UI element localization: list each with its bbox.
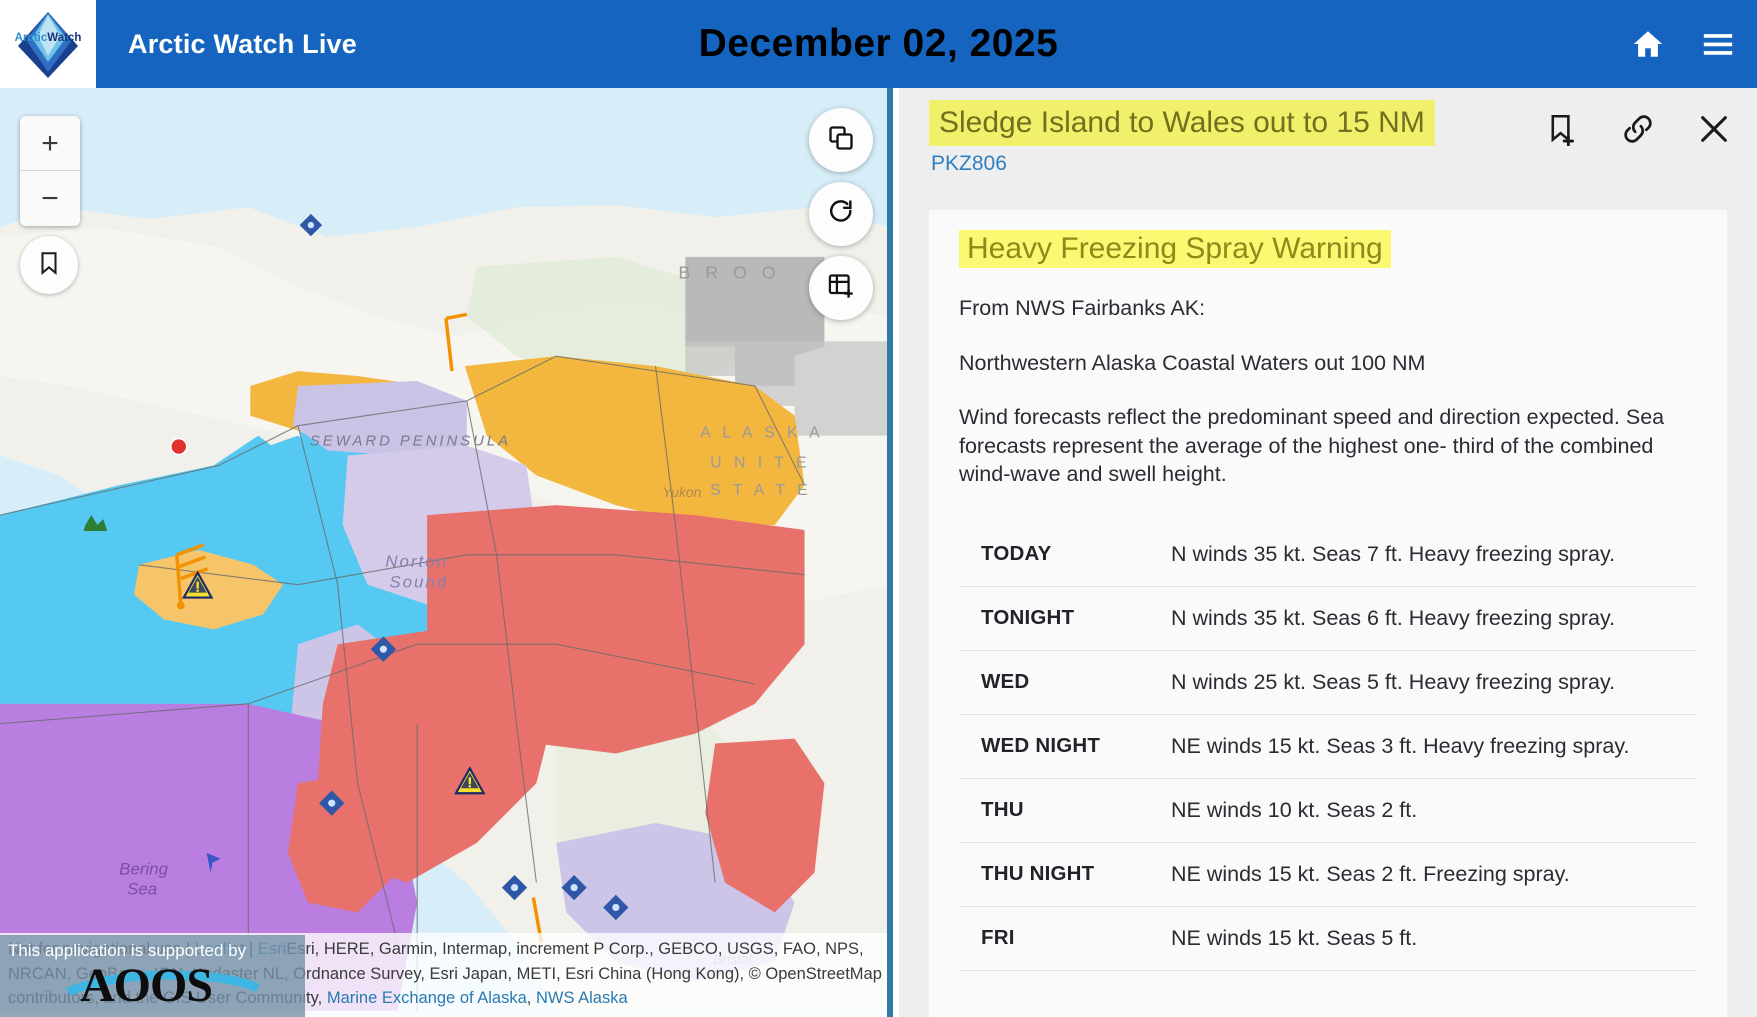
forecast-period: WED: [981, 670, 1171, 694]
marine-exchange-link[interactable]: Marine Exchange of Alaska: [327, 989, 527, 1007]
forecast-text: N winds 25 kt. Seas 5 ft. Heavy freezing…: [1171, 670, 1615, 695]
alert-body[interactable]: Heavy Freezing Spray Warning From NWS Fa…: [929, 210, 1727, 1017]
forecast-period: TODAY: [981, 542, 1171, 566]
table-row: TODAY N winds 35 kt. Seas 7 ft. Heavy fr…: [959, 523, 1697, 587]
nws-alaska-link[interactable]: NWS Alaska: [536, 989, 628, 1007]
aoos-logo: AOOS: [8, 962, 297, 1012]
forecast-period: THU: [981, 798, 1171, 822]
svg-text:SEWARD PENINSULA: SEWARD PENINSULA: [310, 434, 511, 450]
bookmark-icon: [36, 250, 62, 281]
refresh-icon: [827, 198, 855, 231]
forecast-period: THU NIGHT: [981, 862, 1171, 886]
warning-headline: Heavy Freezing Spray Warning: [959, 230, 1391, 268]
table-row: FRI NE winds 15 kt. Seas 5 ft.: [959, 907, 1697, 971]
hamburger-menu-icon[interactable]: [1701, 27, 1735, 61]
app-logo[interactable]: ArcticWatch: [0, 0, 96, 88]
forecast-period: WED NIGHT: [981, 734, 1171, 758]
logo-word-watch: Watch: [47, 32, 81, 44]
map-tool-buttons: [809, 108, 873, 320]
forecast-text: N winds 35 kt. Seas 7 ft. Heavy freezing…: [1171, 542, 1615, 567]
header-actions: [1631, 0, 1735, 88]
table-row: THU NIGHT NE winds 15 kt. Seas 2 ft. Fre…: [959, 843, 1697, 907]
svg-text:B R O O: B R O O: [678, 263, 780, 283]
panel-actions: [1545, 112, 1731, 146]
table-row: TONIGHT N winds 35 kt. Seas 6 ft. Heavy …: [959, 587, 1697, 651]
panel-zone-code[interactable]: PKZ806: [931, 152, 1757, 176]
svg-text:U N I T E: U N I T E: [710, 454, 810, 471]
attribution-comma: ,: [527, 989, 536, 1007]
alert-detail-panel: Sledge Island to Wales out to 15 NM PKZ8…: [899, 88, 1757, 1017]
aoos-wordmark: AOOS: [80, 958, 212, 1013]
forecast-text: N winds 35 kt. Seas 6 ft. Heavy freezing…: [1171, 606, 1615, 631]
sponsor-banner: This application is supported by AOOS: [0, 935, 305, 1017]
logo-word-arctic: Arctic: [15, 32, 48, 44]
alert-paragraph-region: Northwestern Alaska Coastal Waters out 1…: [959, 349, 1689, 378]
table-row: THU NE winds 10 kt. Seas 2 ft.: [959, 779, 1697, 843]
bookmark-add-icon[interactable]: [1545, 112, 1579, 146]
forecast-period: TONIGHT: [981, 606, 1171, 630]
map-zoom-out-button[interactable]: −: [20, 171, 80, 226]
map-layers-button[interactable]: [809, 108, 873, 172]
table-row: WED N winds 25 kt. Seas 5 ft. Heavy free…: [959, 651, 1697, 715]
svg-text:Sea: Sea: [127, 880, 157, 899]
svg-text:S T A T E: S T A T E: [710, 482, 812, 499]
app-header: ArcticWatch Arctic Watch Live December 0…: [0, 0, 1757, 88]
alert-paragraph-note: Wind forecasts reflect the predominant s…: [959, 403, 1689, 489]
close-icon[interactable]: [1697, 112, 1731, 146]
map-refresh-button[interactable]: [809, 182, 873, 246]
panel-title: Sledge Island to Wales out to 15 NM: [929, 100, 1435, 146]
svg-text:Norton: Norton: [385, 552, 448, 571]
svg-text:Sound: Sound: [389, 573, 448, 592]
map-zoom-controls[interactable]: + −: [20, 116, 80, 226]
svg-text:A L A S K A: A L A S K A: [700, 425, 823, 442]
forecast-text: NE winds 10 kt. Seas 2 ft.: [1171, 798, 1417, 823]
link-share-icon[interactable]: [1621, 112, 1655, 146]
map-pane[interactable]: SEWARD PENINSULA Norton Sound Bering Sea…: [0, 88, 893, 1017]
forecast-table: TODAY N winds 35 kt. Seas 7 ft. Heavy fr…: [959, 523, 1697, 971]
map-add-table-button[interactable]: [809, 256, 873, 320]
app-title: Arctic Watch Live: [128, 29, 357, 60]
forecast-text: NE winds 15 kt. Seas 3 ft. Heavy freezin…: [1171, 734, 1629, 759]
forecast-text: NE winds 15 kt. Seas 2 ft. Freezing spra…: [1171, 862, 1570, 887]
home-icon[interactable]: [1631, 27, 1665, 61]
add-table-icon: [827, 272, 855, 305]
map-canvas[interactable]: SEWARD PENINSULA Norton Sound Bering Sea…: [0, 88, 887, 1011]
map-bookmark-button[interactable]: [20, 236, 78, 294]
forecast-period: FRI: [981, 926, 1171, 950]
svg-text:Yukon: Yukon: [663, 484, 702, 500]
table-row: WED NIGHT NE winds 15 kt. Seas 3 ft. Hea…: [959, 715, 1697, 779]
panel-header: Sledge Island to Wales out to 15 NM PKZ8…: [899, 88, 1757, 190]
layers-copy-icon: [827, 124, 855, 157]
forecast-text: NE winds 15 kt. Seas 5 ft.: [1171, 926, 1417, 951]
alert-paragraph-source: From NWS Fairbanks AK:: [959, 294, 1689, 323]
map-zoom-in-button[interactable]: +: [20, 116, 80, 171]
svg-text:Bering: Bering: [119, 860, 168, 879]
application-root: ArcticWatch Arctic Watch Live December 0…: [0, 0, 1757, 1017]
arcticwatch-logo-icon: ArcticWatch: [10, 6, 86, 82]
